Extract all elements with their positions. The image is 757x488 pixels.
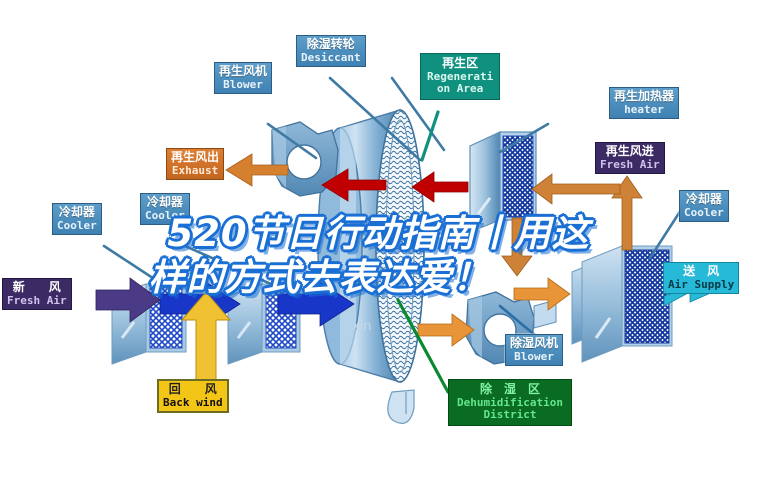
label-dehumidification-district-cn: 除 湿 区	[457, 383, 563, 396]
label-regen-fresh-air-cn: 再生风进	[600, 145, 660, 158]
label-back-wind[interactable]: 回 风 Back wind	[157, 379, 229, 413]
label-regen-heater-cn: 再生加热器	[614, 90, 674, 103]
regeneration-heater	[470, 132, 536, 232]
label-cooler-left-1[interactable]: 冷却器 Cooler	[52, 203, 102, 235]
label-regen-blower-cn: 再生风机	[219, 65, 267, 78]
label-fresh-air-cn: 新 风	[7, 281, 67, 294]
svg-text:xin: xin	[352, 319, 372, 334]
label-dehumidification-district-en2: District	[457, 409, 563, 421]
label-fresh-air[interactable]: 新 风 Fresh Air	[2, 278, 72, 310]
label-regen-blower[interactable]: 再生风机 Blower	[214, 62, 272, 94]
label-air-supply-cn: 送 风	[668, 265, 734, 278]
label-regen-heater-en: heater	[614, 104, 674, 116]
label-dehumidification-district-en1: Dehumidification	[457, 397, 563, 409]
label-dehum-blower-cn: 除湿风机	[510, 337, 558, 350]
label-air-supply-en: Air Supply	[668, 279, 734, 291]
label-dehumidification-district[interactable]: 除 湿 区 Dehumidification District	[448, 379, 572, 426]
diagram-canvas: xin	[0, 0, 757, 488]
arrow-dehum-orange-1	[418, 314, 474, 346]
arrow-heater-down-orange	[502, 218, 532, 276]
label-regen-fresh-air-en: Fresh Air	[600, 159, 660, 171]
label-dehum-blower-en: Blower	[510, 351, 558, 363]
label-cooler-left-2-en: Cooler	[145, 210, 185, 222]
label-back-wind-cn: 回 风	[163, 383, 223, 396]
label-cooler-left-2-cn: 冷却器	[145, 196, 185, 209]
supply-coil-box	[582, 246, 672, 362]
label-desiccant[interactable]: 除湿转轮 Desiccant	[296, 35, 366, 67]
label-exhaust-cn: 再生风出	[171, 151, 219, 164]
label-desiccant-en: Desiccant	[301, 52, 361, 64]
label-regeneration-area-cn: 再生区	[427, 57, 493, 70]
label-cooler-left-1-en: Cooler	[57, 220, 97, 232]
label-regen-blower-en: Blower	[219, 79, 267, 91]
machine-illustration: xin	[0, 0, 757, 488]
label-regeneration-area-en2: on Area	[427, 83, 493, 95]
label-cooler-left-2[interactable]: 冷却器 Cooler	[140, 193, 190, 225]
label-desiccant-cn: 除湿转轮	[301, 38, 361, 51]
label-cooler-right-en: Cooler	[684, 207, 724, 219]
label-exhaust[interactable]: 再生风出 Exhaust	[166, 148, 224, 180]
label-dehum-blower[interactable]: 除湿风机 Blower	[505, 334, 563, 366]
label-regeneration-area-en1: Regenerati	[427, 71, 493, 83]
label-regen-fresh-air[interactable]: 再生风进 Fresh Air	[595, 142, 665, 174]
label-cooler-right[interactable]: 冷却器 Cooler	[679, 190, 729, 222]
label-regeneration-area[interactable]: 再生区 Regenerati on Area	[420, 53, 500, 100]
arrow-regen-fresh-orange-horizontal	[532, 174, 620, 204]
label-regen-heater[interactable]: 再生加热器 heater	[609, 87, 679, 119]
label-air-supply[interactable]: 送 风 Air Supply	[663, 262, 739, 294]
label-fresh-air-en: Fresh Air	[7, 295, 67, 307]
label-cooler-right-cn: 冷却器	[684, 193, 724, 206]
label-back-wind-en: Back wind	[163, 397, 223, 409]
label-exhaust-en: Exhaust	[171, 165, 219, 177]
label-cooler-left-1-cn: 冷却器	[57, 206, 97, 219]
